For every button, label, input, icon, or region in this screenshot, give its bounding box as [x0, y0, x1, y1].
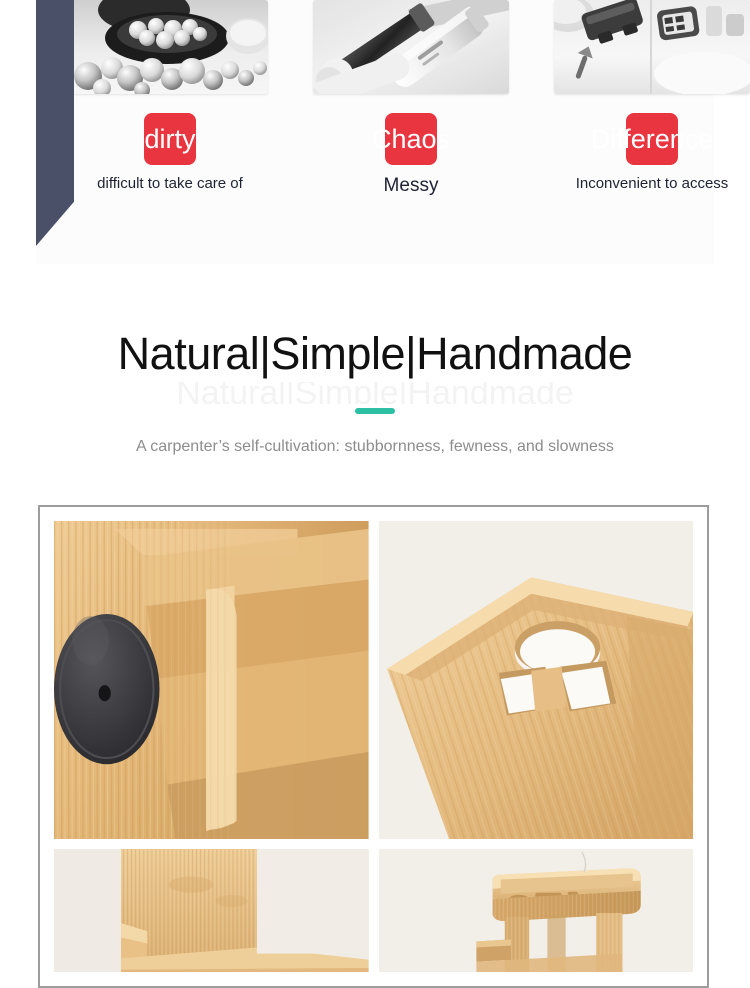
pain-badge-label: Chaos: [311, 113, 511, 165]
pain-points-grid: dirty difficult to take care of: [72, 0, 750, 197]
pain-badge-wrap: Chaos: [313, 94, 509, 168]
product-detail-gallery: [38, 505, 709, 988]
teal-divider: [355, 408, 395, 414]
page-title: Natural|Simple|Handmade: [0, 326, 750, 382]
pain-caption: Inconvenient to access: [576, 175, 729, 192]
cosmetics-photo-graphic: [313, 0, 509, 94]
pain-badge-wrap: Difference: [554, 94, 750, 168]
pain-badge-label: dirty: [70, 113, 270, 165]
desk-items-photo-graphic: [554, 0, 750, 94]
bamboo-tray-cutouts-graphic: [379, 521, 694, 839]
bamboo-corner-foot-graphic: [54, 521, 369, 839]
pain-photo-pearls: [72, 0, 268, 94]
pain-badge-label: Difference: [552, 113, 750, 165]
headline-section: Natural|Simple|Handmade Natural|Simple|H…: [0, 326, 750, 456]
page-subtitle: A carpenter’s self-cultivation: stubborn…: [0, 438, 750, 456]
gallery-image-full-product[interactable]: [379, 849, 694, 972]
gallery-image-tray-cutouts[interactable]: [379, 521, 694, 839]
headline-ghost-echo: Natural|Simple|Handmade: [0, 382, 750, 404]
pain-points-panel: dirty difficult to take care of: [36, 0, 714, 264]
pearls-photo-graphic: [72, 0, 268, 94]
pain-photo-cosmetics: [313, 0, 509, 94]
gallery-image-corner-foot[interactable]: [54, 521, 369, 839]
pain-point-item: dirty difficult to take care of: [72, 0, 268, 197]
gallery-image-inner-joint[interactable]: [54, 849, 369, 972]
pain-point-item: Difference Inconvenient to access: [554, 0, 750, 197]
pain-point-item: Chaos Messy: [313, 0, 509, 197]
pain-photo-desk-items: [554, 0, 750, 94]
bamboo-inner-joint-graphic: [54, 849, 369, 972]
pain-caption: difficult to take care of: [97, 175, 243, 192]
product-detail-page: dirty difficult to take care of: [0, 0, 750, 988]
navy-corner-tab: [36, 0, 74, 246]
gallery-grid: [54, 521, 693, 972]
bamboo-full-product-graphic: [379, 849, 694, 972]
pain-caption: Messy: [384, 175, 439, 197]
pain-badge-wrap: dirty: [72, 94, 268, 168]
